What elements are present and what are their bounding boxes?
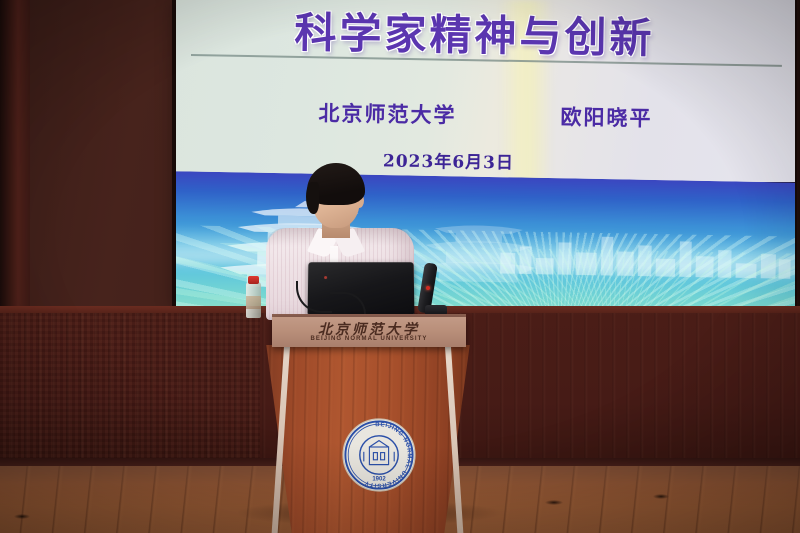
floor-marking <box>545 500 563 505</box>
floor-marking <box>14 514 30 519</box>
university-emblem-icon: BEIJING NORMAL UNIVERSITY 1902 <box>339 415 419 495</box>
water-bottle-cap <box>248 276 259 284</box>
lecture-scene: 科学家精神与创新 北京师范大学 欧阳晓平 2023年6月3日 <box>0 0 800 533</box>
laptop-indicator-light <box>324 276 327 279</box>
podium-name-english: BEIJING NORMAL UNIVERSITY <box>272 336 466 342</box>
wainscot-weave-texture <box>0 306 260 466</box>
microphone-indicator-light <box>426 286 430 290</box>
slide-organization: 北京师范大学 <box>318 97 456 129</box>
emblem-year: 1902 <box>372 477 386 483</box>
podium-nameplate: 北京师范大学 BEIJING NORMAL UNIVERSITY <box>272 317 466 347</box>
slide-speaker-name: 欧阳晓平 <box>560 101 652 132</box>
presenter-hair-side <box>306 182 319 214</box>
wall-left-edge <box>0 0 30 320</box>
floor-marking <box>653 494 669 499</box>
slide-title: 科学家精神与创新 <box>176 0 795 68</box>
water-bottle-label <box>246 296 261 309</box>
